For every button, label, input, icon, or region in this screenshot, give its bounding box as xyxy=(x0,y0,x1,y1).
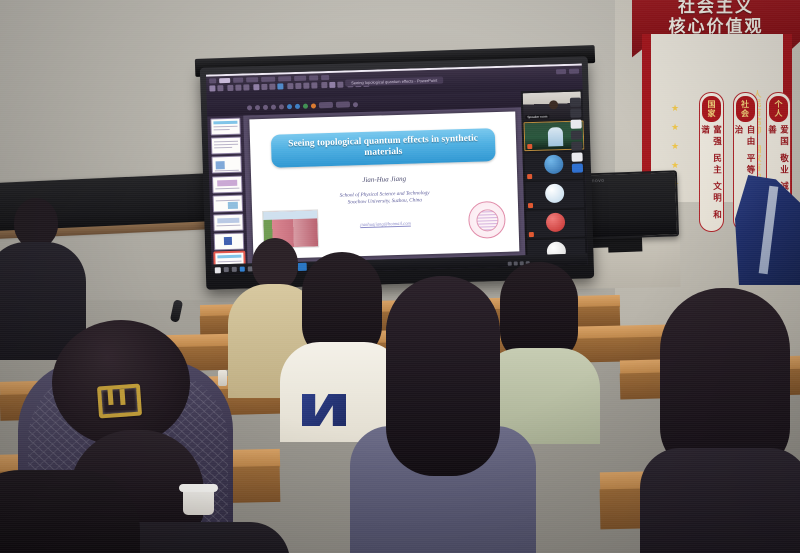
participants-button[interactable] xyxy=(571,130,582,139)
slide-thumbnail[interactable] xyxy=(213,214,243,232)
ribbon-group-font[interactable] xyxy=(253,83,283,90)
mic-muted-icon xyxy=(527,174,532,179)
ribbon-tab-home[interactable] xyxy=(219,78,230,83)
bold-icon[interactable] xyxy=(253,84,259,90)
university-seal-inner xyxy=(476,209,499,232)
slide-title: Seeing topological quantum effects in sy… xyxy=(271,128,496,168)
star-icon: ★ xyxy=(671,123,679,132)
slide-thumbnail[interactable] xyxy=(211,156,241,174)
window-controls[interactable] xyxy=(556,69,579,75)
cut-icon[interactable] xyxy=(217,85,223,91)
ribbon-group-drawing[interactable] xyxy=(321,82,343,89)
pen-icon[interactable] xyxy=(255,105,260,110)
slide-thumbnail[interactable] xyxy=(210,118,240,136)
align-center-icon[interactable] xyxy=(311,82,317,88)
eraser-icon[interactable] xyxy=(271,104,276,109)
bullets-icon[interactable] xyxy=(287,83,293,89)
more-options-button[interactable] xyxy=(571,152,582,161)
mic-muted-icon xyxy=(528,203,533,208)
underline-icon[interactable] xyxy=(269,84,275,90)
lasso-icon[interactable] xyxy=(279,104,284,109)
ribbon-tab-transitions[interactable] xyxy=(261,77,275,82)
layout-icon[interactable] xyxy=(235,85,241,91)
ribbon-tab-animations[interactable] xyxy=(278,76,291,81)
lecture-hall-photo: 社会主义 核心价值观 ★ ★ ★ ★ ★ 人民有信仰 · 国家有力量 国家 富强… xyxy=(0,0,800,553)
head xyxy=(14,198,58,248)
poster-column-individual-head: 个人 xyxy=(769,96,788,122)
ribbon-tab-view[interactable] xyxy=(321,75,329,80)
align-left-icon[interactable] xyxy=(303,83,309,89)
torso xyxy=(640,448,800,553)
new-slide-icon[interactable] xyxy=(227,85,233,91)
university-seal-icon xyxy=(468,201,506,239)
poster-column-state-words: 富强 民主 文明 和谐 xyxy=(700,125,724,223)
numbering-icon[interactable] xyxy=(295,83,301,89)
zoom-control[interactable] xyxy=(319,102,333,108)
italic-icon[interactable] xyxy=(261,84,267,90)
minimize-button[interactable] xyxy=(556,69,566,74)
paper-cup-lid xyxy=(179,484,218,492)
ribbon-group-clipboard[interactable] xyxy=(209,85,223,91)
start-button-icon[interactable] xyxy=(215,267,221,273)
ribbon-tab-file[interactable] xyxy=(209,78,216,83)
vc-tile-avatar[interactable] xyxy=(525,180,584,209)
chat-button[interactable] xyxy=(571,141,582,150)
highlighter-icon[interactable] xyxy=(263,104,268,109)
slide-author: Jian-Hua Jiang xyxy=(251,172,518,188)
shapes-icon[interactable] xyxy=(321,82,327,88)
avatar xyxy=(545,184,565,204)
arrange-icon[interactable] xyxy=(329,82,335,88)
avatar xyxy=(546,213,566,233)
mute-button[interactable] xyxy=(570,98,581,107)
attendee-center-long-hair xyxy=(368,276,518,553)
reset-icon[interactable] xyxy=(243,84,249,90)
attendee-right-edge xyxy=(650,288,800,553)
ribbon-group-paragraph[interactable] xyxy=(287,82,317,89)
slide-thumbnail[interactable] xyxy=(212,175,242,193)
video-button[interactable] xyxy=(570,109,581,118)
slide-thumbnail[interactable] xyxy=(211,137,241,155)
ribbon-tab-slideshow[interactable] xyxy=(294,76,306,81)
poster-column-society-head: 社会 xyxy=(736,96,755,122)
star-icon: ★ xyxy=(671,104,679,113)
hair-clip-bar xyxy=(107,389,113,405)
hair-overlay xyxy=(386,276,500,476)
theme-control[interactable] xyxy=(336,101,350,107)
picture-icon[interactable] xyxy=(303,103,308,108)
vc-tile-avatar[interactable] xyxy=(526,209,585,238)
share-screen-button[interactable] xyxy=(570,120,581,129)
chart-icon[interactable] xyxy=(311,103,316,108)
text-box-icon[interactable] xyxy=(295,103,300,108)
hair-clip-bar xyxy=(119,389,125,405)
poster-column-state-head: 国家 xyxy=(702,96,721,122)
shape-fill-icon[interactable] xyxy=(287,104,292,109)
font-color-icon[interactable] xyxy=(277,83,283,89)
meeting-controls[interactable] xyxy=(570,98,583,173)
ribbon-document-title: Seeing topological quantum effects - Pow… xyxy=(345,77,443,87)
ribbon-tab-design[interactable] xyxy=(246,77,258,82)
vc-participant-name: Speaker room xyxy=(525,114,549,119)
poster-column-state: 国家 富强 民主 文明 和谐 xyxy=(699,92,724,232)
maximize-button[interactable] xyxy=(569,69,579,74)
leave-meeting-button[interactable] xyxy=(572,163,583,172)
help-icon[interactable] xyxy=(353,102,358,107)
ribbon-tab-insert[interactable] xyxy=(233,78,243,83)
star-icon: ★ xyxy=(671,161,679,170)
pointer-icon[interactable] xyxy=(247,105,252,110)
ribbon-tab-review[interactable] xyxy=(309,75,318,80)
quick-styles-icon[interactable] xyxy=(337,82,343,88)
paper-cup xyxy=(183,489,214,515)
slide-thumbnail[interactable] xyxy=(213,194,243,212)
star-icon: ★ xyxy=(671,142,679,151)
mic-muted-icon xyxy=(529,232,534,237)
avatar xyxy=(544,155,564,175)
ribbon-group-slides[interactable] xyxy=(227,84,249,91)
mic-muted-icon xyxy=(527,144,532,149)
paste-icon[interactable] xyxy=(209,85,215,91)
current-slide[interactable]: Seeing topological quantum effects in sy… xyxy=(249,112,520,259)
hair xyxy=(660,288,790,474)
hair-bun xyxy=(52,320,190,446)
